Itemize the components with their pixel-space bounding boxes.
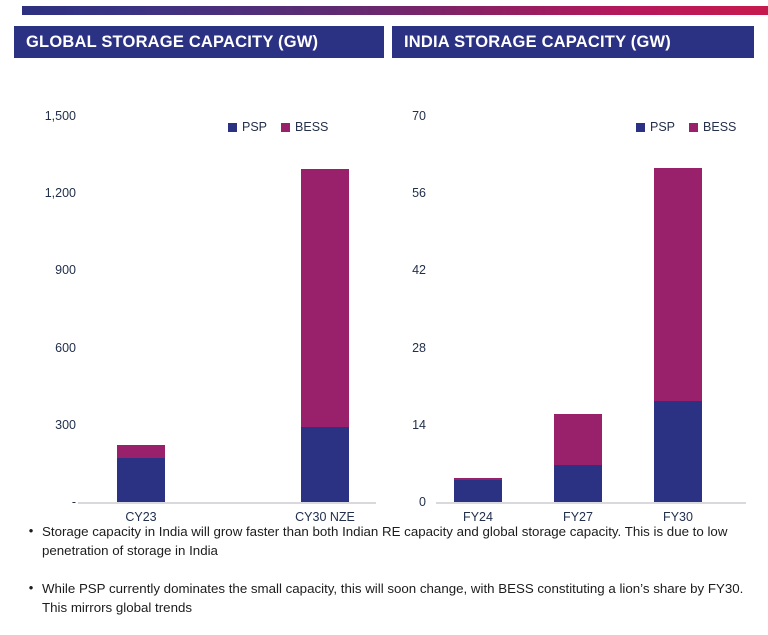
global-storage-panel: GLOBAL STORAGE CAPACITY (GW) PSP BESS 1,… <box>14 26 384 498</box>
insights-list: • Storage capacity in India will grow fa… <box>20 522 750 635</box>
bar-fy27[interactable] <box>554 414 602 502</box>
list-item: • Storage capacity in India will grow fa… <box>20 522 750 561</box>
list-item: • While PSP currently dominates the smal… <box>20 579 750 618</box>
bullet-dot-icon: • <box>20 522 42 561</box>
bar-cy30-nze[interactable] <box>301 169 349 502</box>
bullet-dot-icon: • <box>20 579 42 618</box>
india-storage-panel: INDIA STORAGE CAPACITY (GW) PSP BESS 70 … <box>392 26 754 498</box>
bar-cy30-nze-psp-segment <box>301 427 349 502</box>
brand-gradient-rule <box>22 6 768 15</box>
bar-fy30-bess-segment <box>654 168 702 401</box>
bar-fy24-psp-segment <box>454 480 502 502</box>
india-chart-plot: PSP BESS 70 56 42 28 14 0 <box>392 58 754 498</box>
bar-fy30[interactable] <box>654 168 702 502</box>
bar-fy27-psp-segment <box>554 465 602 502</box>
global-chart-plot: PSP BESS 1,500 1,200 900 600 300 - <box>14 58 384 498</box>
bar-fy24[interactable] <box>454 478 502 502</box>
bullet-text-1: Storage capacity in India will grow fast… <box>42 522 750 561</box>
bar-group-india <box>392 58 754 503</box>
bar-fy30-psp-segment <box>654 401 702 502</box>
bullet-text-2: While PSP currently dominates the small … <box>42 579 750 618</box>
bar-cy23[interactable] <box>117 445 165 502</box>
bar-cy30-nze-bess-segment <box>301 169 349 427</box>
bar-group-global <box>14 58 384 503</box>
panel-title-global: GLOBAL STORAGE CAPACITY (GW) <box>14 26 384 58</box>
bar-cy23-psp-segment <box>117 458 165 502</box>
bar-cy23-bess-segment <box>117 445 165 458</box>
panel-title-india: INDIA STORAGE CAPACITY (GW) <box>392 26 754 58</box>
bar-fy27-bess-segment <box>554 414 602 465</box>
